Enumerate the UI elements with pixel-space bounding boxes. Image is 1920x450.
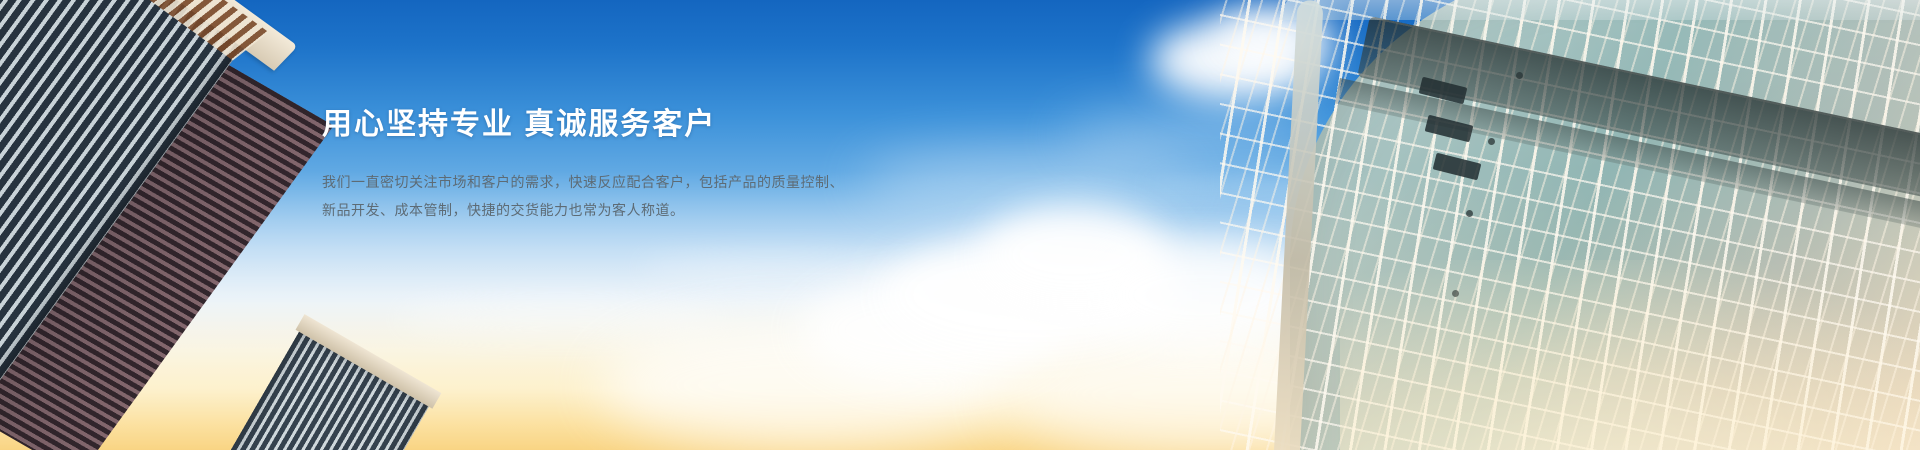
hero-banner: 用心坚持专业 真诚服务客户 我们一直密切关注市场和客户的需求，快速反应配合客户，… [0,0,1920,450]
glass-tower-sun-glow [1340,260,1920,450]
glass-tower-anchor-dot [1516,72,1523,79]
right-glass-tower [1220,0,1920,450]
cloud-wisp-icon [400,300,720,336]
glass-tower-anchor-dot [1466,210,1473,217]
banner-description-line-1: 我们一直密切关注市场和客户的需求，快速反应配合客户，包括产品的质量控制、 [322,168,942,196]
cloud-wisp-icon [640,255,900,281]
glass-tower-crown [1280,0,1920,20]
banner-copy-block: 用心坚持专业 真诚服务客户 我们一直密切关注市场和客户的需求，快速反应配合客户，… [322,106,942,224]
banner-description-line-2: 新品开发、成本管制，快捷的交货能力也常为客人称道。 [322,196,942,224]
banner-headline: 用心坚持专业 真诚服务客户 [322,106,942,144]
glass-tower-anchor-dot [1488,138,1495,145]
banner-description: 我们一直密切关注市场和客户的需求，快速反应配合客户，包括产品的质量控制、 新品开… [322,168,942,224]
